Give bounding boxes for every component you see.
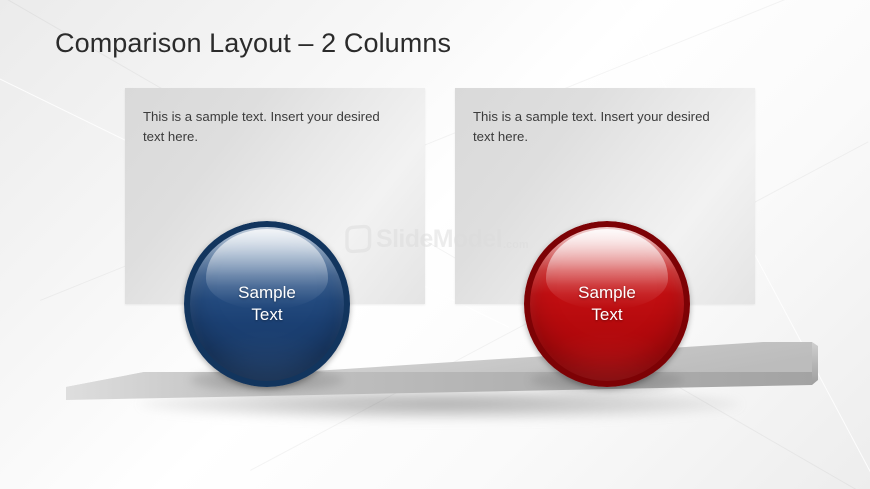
shelf-shape	[0, 330, 870, 440]
shelf-platform	[0, 330, 870, 440]
sphere-right-red[interactable]: Sample Text	[524, 221, 690, 387]
page-title: Comparison Layout – 2 Columns	[55, 28, 451, 59]
panel-text-left: This is a sample text. Insert your desir…	[143, 107, 401, 147]
slide-canvas: Comparison Layout – 2 Columns This is a …	[0, 0, 870, 489]
sphere-left-blue[interactable]: Sample Text	[184, 221, 350, 387]
sphere-body	[524, 221, 690, 387]
sphere-body	[184, 221, 350, 387]
panel-text-right: This is a sample text. Insert your desir…	[473, 107, 731, 147]
